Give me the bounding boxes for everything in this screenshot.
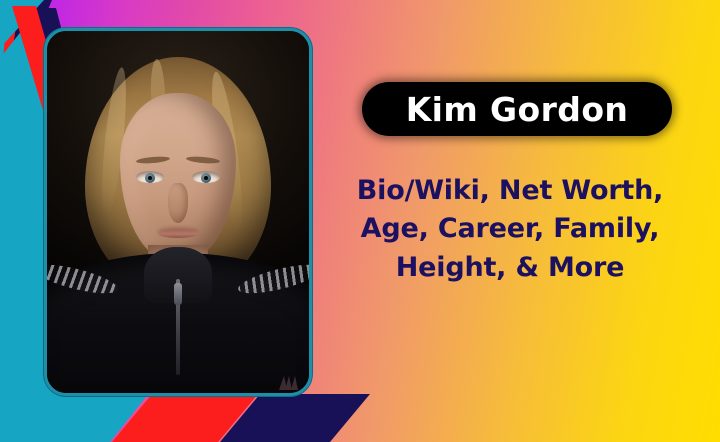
shoulder-studs-right [236, 259, 309, 299]
face [120, 93, 236, 261]
mouth [158, 229, 198, 238]
portrait-photo-frame [44, 28, 312, 396]
zipper-pull [174, 283, 182, 305]
celebrity-name: Kim Gordon [406, 90, 629, 129]
cyan-bottom-stripe [0, 392, 150, 442]
pupil-right [204, 176, 208, 180]
cyan-body [0, 0, 44, 48]
jacket-logo-icon [277, 375, 299, 391]
shoulder-studs-left [47, 259, 120, 299]
eye-right [192, 171, 220, 183]
eyebrow-right [186, 156, 220, 165]
red-bottom-stripe [112, 394, 258, 442]
red-sliver-top [0, 0, 34, 96]
eyebrow-left [136, 156, 170, 165]
portrait-photo [47, 31, 309, 393]
eye-left [136, 171, 164, 183]
black-jacket [47, 253, 309, 393]
name-badge: Kim Gordon [362, 82, 672, 136]
subtitle-line-3: Height, & More [318, 249, 702, 287]
iris-left [145, 173, 155, 183]
pupil-left [148, 176, 152, 180]
nose [168, 183, 188, 223]
navy-bottom-stripe [220, 394, 370, 442]
subtitle-line-2: Age, Career, Family, [318, 210, 702, 248]
subtitle-block: Bio/Wiki, Net Worth, Age, Career, Family… [318, 172, 702, 287]
celebrity-bio-banner: Kim Gordon Bio/Wiki, Net Worth, Age, Car… [0, 0, 720, 442]
iris-right [201, 173, 211, 183]
cyan-wedge-top [0, 0, 26, 64]
subtitle-line-1: Bio/Wiki, Net Worth, [318, 172, 702, 210]
